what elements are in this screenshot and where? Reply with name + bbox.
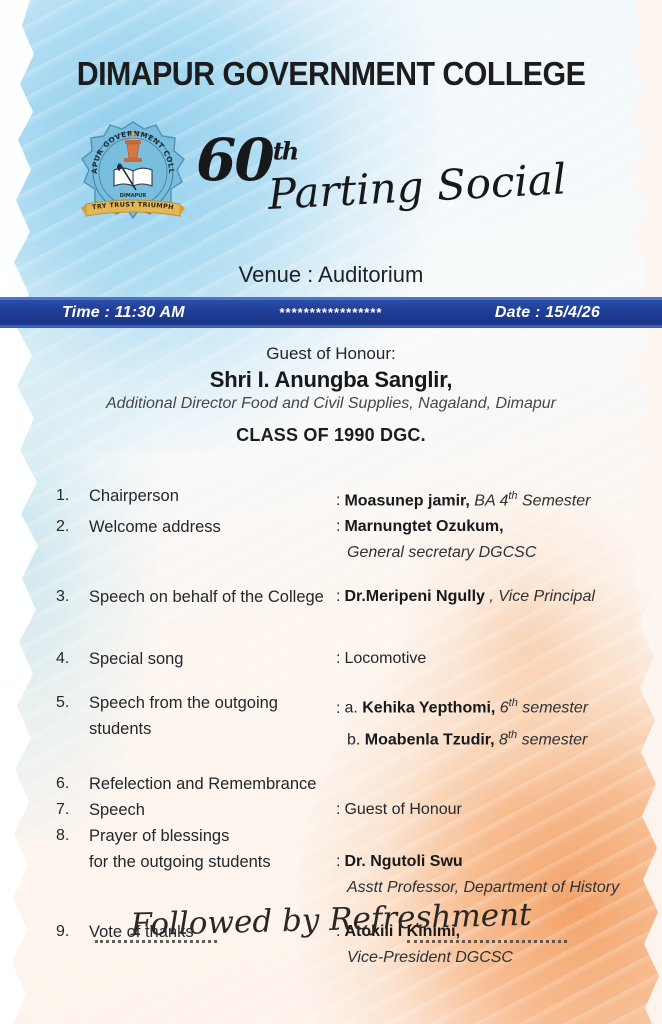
list-item: 7. Speech :Guest of Honour bbox=[0, 797, 662, 823]
programme-detail-tail: semester bbox=[518, 700, 588, 717]
event-date: Date : 15/4/26 bbox=[495, 304, 600, 322]
programme-item-label-line2: for the outgoing students bbox=[89, 849, 334, 875]
footer-block: Followed by Refreshment bbox=[0, 896, 662, 956]
programme-spacer bbox=[0, 753, 662, 771]
programme-item-number: 2. bbox=[0, 514, 89, 540]
venue-line: Venue : Auditorium bbox=[0, 262, 662, 288]
invitation-poster: DIMAPUR GOVERNMENT COLLEGE DIMAPUR GOVER… bbox=[0, 0, 662, 1024]
programme-item-value: :Moasunep jamir, BA 4th Semester bbox=[336, 483, 662, 514]
programme-person-subtitle: General secretary DGCSC bbox=[336, 540, 662, 566]
programme-person-detail: , Vice Principal bbox=[485, 588, 595, 605]
programme-colon: : bbox=[336, 853, 340, 870]
programme-item-value: :Marnungtet Ozukum, General secretary DG… bbox=[336, 514, 662, 566]
programme-colon: : bbox=[336, 518, 340, 535]
guest-of-honour-designation: Additional Director Food and Civil Suppl… bbox=[0, 395, 662, 413]
guest-of-honour-name: Shri I. Anungba Sanglir, bbox=[0, 367, 662, 393]
programme-detail-tail: Semester bbox=[518, 492, 591, 509]
programme-person-name: Dr.Meripeni Ngully bbox=[344, 588, 484, 605]
programme-item-label: Speech bbox=[89, 797, 336, 823]
programme-detail-superscript: th bbox=[508, 729, 517, 741]
programme-item-label: Special song bbox=[89, 646, 336, 672]
programme-person-name: Moabenla Tzudir, bbox=[365, 731, 495, 748]
programme-person-name: Kehika Yepthomi, bbox=[362, 700, 495, 717]
programme-item-label-line2: students bbox=[89, 716, 334, 742]
programme-item-number: 6. bbox=[0, 771, 89, 797]
programme-name-row: :Dr. Ngutoli Swu bbox=[336, 849, 662, 875]
programme-subitem-a-prefix: a. bbox=[344, 700, 362, 717]
edition-number-value: 60 bbox=[196, 126, 273, 194]
list-item: 6. Refelection and Remembrance bbox=[0, 771, 662, 797]
programme-colon: : bbox=[336, 588, 340, 605]
programme-item-number: 4. bbox=[0, 646, 89, 672]
programme-detail-superscript: th bbox=[508, 490, 517, 502]
programme-item-number: 7. bbox=[0, 797, 89, 823]
programme-person-detail: Guest of Honour bbox=[344, 801, 461, 818]
programme-spacer bbox=[0, 566, 662, 584]
programme-value-spacer bbox=[336, 823, 662, 849]
programme-item-label: Speech from the outgoing students bbox=[89, 690, 336, 742]
programme-item-number: 1. bbox=[0, 483, 89, 509]
programme-item-label: Refelection and Remembrance bbox=[89, 771, 411, 797]
programme-item-number: 5. bbox=[0, 690, 89, 716]
programme-subitem-b-prefix: b. bbox=[347, 731, 365, 748]
programme-person-name: Marnungtet Ozukum, bbox=[344, 518, 503, 535]
programme-spacer bbox=[0, 672, 662, 690]
programme-colon: : bbox=[336, 700, 340, 717]
list-item: 8. Prayer of blessings for the outgoing … bbox=[0, 823, 662, 901]
list-item: 3. Speech on behalf of the College :Dr.M… bbox=[0, 584, 662, 610]
programme-subitem-b: b. Moabenla Tzudir, 8th semester bbox=[336, 722, 662, 753]
programme-item-number: 8. bbox=[0, 823, 89, 849]
programme-person-detail: 8 bbox=[495, 731, 508, 748]
footer-dotted-rule-right bbox=[407, 940, 567, 943]
programme-item-label: Welcome address bbox=[89, 514, 336, 540]
programme-detail-superscript: th bbox=[509, 697, 518, 709]
programme-item-value: :Guest of Honour bbox=[336, 797, 662, 823]
programme-item-label: Speech on behalf of the College bbox=[89, 584, 336, 610]
event-title-block: 60th Parting Social bbox=[190, 126, 520, 236]
programme-spacer bbox=[0, 610, 662, 628]
programme-person-detail: Locomotive bbox=[344, 650, 426, 667]
crest-place-line-1: DIMAPUR bbox=[120, 193, 147, 199]
programme-item-value: :a. Kehika Yepthomi, 6th semester b. Moa… bbox=[336, 690, 662, 753]
programme-person-name: Dr. Ngutoli Swu bbox=[344, 853, 462, 870]
guest-of-honour-block: Guest of Honour: Shri I. Anungba Sanglir… bbox=[0, 344, 662, 413]
programme-colon: : bbox=[336, 492, 340, 509]
footer-script-text: Followed by Refreshment bbox=[0, 893, 662, 946]
programme-item-label-line1: Speech from the outgoing bbox=[89, 694, 278, 712]
programme-person-name: Moasunep jamir, bbox=[344, 492, 469, 509]
college-crest-logo: DIMAPUR GOVERNMENT COLLEGE DIMAPUR NAGAL… bbox=[78, 118, 188, 228]
programme-colon: : bbox=[336, 801, 340, 818]
programme-person-detail: BA 4 bbox=[470, 492, 509, 509]
page-title: DIMAPUR GOVERNMENT COLLEGE bbox=[26, 55, 635, 93]
list-item: 1. Chairperson :Moasunep jamir, BA 4th S… bbox=[0, 483, 662, 514]
programme-colon: : bbox=[336, 650, 340, 667]
edition-number-suffix: th bbox=[273, 137, 298, 166]
poster-content: DIMAPUR GOVERNMENT COLLEGE DIMAPUR GOVER… bbox=[0, 0, 662, 1024]
list-item: 2. Welcome address :Marnungtet Ozukum, G… bbox=[0, 514, 662, 566]
programme-item-label: Chairperson bbox=[89, 483, 336, 509]
programme-item-value: :Dr. Ngutoli Swu Asstt Professor, Depart… bbox=[336, 823, 662, 901]
programme-item-number: 3. bbox=[0, 584, 89, 610]
programme-detail-tail: semester bbox=[517, 731, 587, 748]
programme-item-label-line1: Prayer of blessings bbox=[89, 827, 229, 845]
list-item: 5. Speech from the outgoing students :a.… bbox=[0, 690, 662, 753]
programme-spacer bbox=[0, 628, 662, 646]
programme-subitem-a: :a. Kehika Yepthomi, 6th semester bbox=[336, 690, 662, 721]
list-item: 4. Special song :Locomotive bbox=[0, 646, 662, 672]
programme-item-value: :Dr.Meripeni Ngully , Vice Principal bbox=[336, 584, 662, 610]
class-of-label: CLASS OF 1990 DGC. bbox=[0, 425, 662, 446]
programme-item-value: :Locomotive bbox=[336, 646, 662, 672]
guest-of-honour-label: Guest of Honour: bbox=[0, 344, 662, 364]
programme-person-detail: 6 bbox=[495, 700, 508, 717]
programme-item-label: Prayer of blessings for the outgoing stu… bbox=[89, 823, 336, 875]
time-date-banner: Time : 11:30 AM ***************** Date :… bbox=[0, 297, 662, 328]
event-title: Parting Social bbox=[267, 154, 568, 219]
